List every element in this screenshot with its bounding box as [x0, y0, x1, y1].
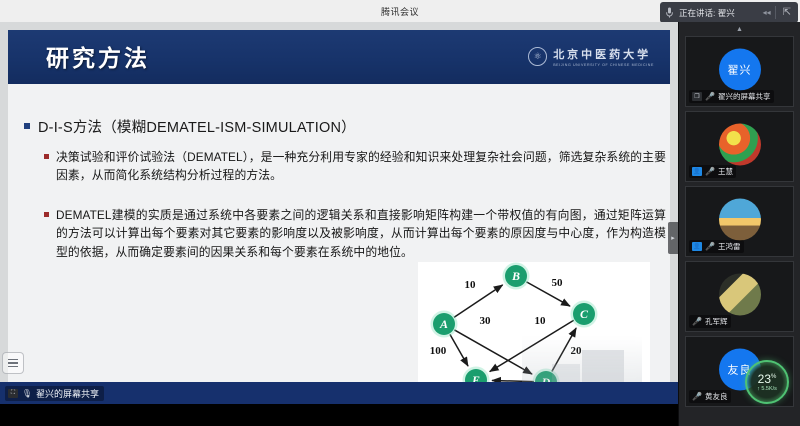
share-status-bar: ⛶ 🎙 翟兴的屏幕共享: [0, 382, 678, 404]
graph-edge: [454, 285, 503, 317]
presentation-slide: 研究方法 ⚛ 北京中医药大学 BEIJING UNIVERSITY OF CHI…: [8, 30, 670, 398]
pill-divider: [775, 6, 776, 19]
participant-tile[interactable]: 友良🎤黄友良23%↑ 5.5K/s: [685, 336, 794, 407]
microphone-muted-icon: 🎤: [705, 167, 715, 176]
participant-name: 翟兴的屏幕共享: [718, 91, 771, 102]
slide-header: 研究方法 ⚛ 北京中医药大学 BEIJING UNIVERSITY OF CHI…: [8, 30, 670, 84]
graph-edge-weight: 50: [552, 277, 564, 289]
active-speaker-label: 正在讲话: 翟兴: [679, 7, 759, 19]
network-rate: ↑ 5.5K/s: [757, 386, 777, 392]
meeting-window: 腾讯会议 正在讲话: 翟兴 ◂◂ ⇱ 研究方法 ⚛ 北京中医药大学 BEIJIN…: [0, 0, 800, 426]
app-title: 腾讯会议: [381, 5, 419, 18]
participant-tile[interactable]: 翟兴❐🎤翟兴的屏幕共享: [685, 36, 794, 107]
chevron-collapse-icon[interactable]: ◂◂: [763, 8, 771, 17]
bullet-level2: DEMATEL建模的实质是通过系统中各要素之间的逻辑关系和直接影响矩阵构建一个带…: [44, 206, 666, 261]
participant-tile[interactable]: 👤🎤王鸿雷: [685, 186, 794, 257]
university-seal-icon: ⚛: [528, 47, 547, 66]
bullet-level2-text: DEMATEL建模的实质是通过系统中各要素之间的逻辑关系和直接影响矩阵构建一个带…: [56, 206, 666, 261]
share-status-label: 翟兴的屏幕共享: [36, 387, 99, 400]
graph-edge-weight: 10: [535, 315, 547, 327]
graph-edge: [450, 334, 468, 366]
avatar: [719, 273, 761, 315]
graph-node-label: A: [439, 317, 448, 331]
panel-toggle-icon[interactable]: [2, 352, 24, 374]
share-status-chip: ⛶ 🎙 翟兴的屏幕共享: [5, 386, 104, 401]
microphone-icon: 🎤: [705, 92, 715, 101]
slide-title: 研究方法: [46, 39, 150, 73]
graph-edge-weight: 10: [465, 279, 477, 291]
bullet-level1-text: D-I-S方法（模糊DEMATEL-ISM-SIMULATION）: [38, 116, 356, 137]
bullet-square-icon: [44, 212, 49, 217]
participant-name: 孔军辉: [705, 316, 728, 327]
participant-tile-list: 翟兴❐🎤翟兴的屏幕共享👤🎤王慧👤🎤王鸿雷🎤孔军辉友良🎤黄友良23%↑ 5.5K/…: [679, 36, 800, 407]
participant-name: 王慧: [718, 166, 733, 177]
participant-tile[interactable]: 🎤孔军辉: [685, 261, 794, 332]
graph-edge: [526, 282, 570, 306]
participant-name: 王鸿雷: [718, 241, 741, 252]
participant-label: 👤🎤王慧: [689, 165, 736, 178]
screen-share-icon: ⛶: [8, 389, 18, 398]
microphone-muted-icon: 🎤: [692, 317, 702, 326]
participants-rail[interactable]: ▲ 翟兴❐🎤翟兴的屏幕共享👤🎤王慧👤🎤王鸿雷🎤孔军辉友良🎤黄友良23%↑ 5.5…: [678, 22, 800, 426]
university-name-cn: 北京中医药大学: [553, 46, 654, 62]
participant-label: ❐🎤翟兴的屏幕共享: [689, 90, 774, 103]
university-name-en: BEIJING UNIVERSITY OF CHINESE MEDICINE: [553, 63, 654, 67]
shared-screen-area[interactable]: 研究方法 ⚛ 北京中医药大学 BEIJING UNIVERSITY OF CHI…: [0, 22, 678, 404]
avatar: [719, 198, 761, 240]
bullet-square-icon: [44, 154, 49, 159]
avatar: [719, 123, 761, 165]
university-logo: ⚛ 北京中医药大学 BEIJING UNIVERSITY OF CHINESE …: [528, 46, 654, 67]
microphone-muted-icon: 🎤: [705, 242, 715, 251]
bullet-level1: D-I-S方法（模糊DEMATEL-ISM-SIMULATION）: [24, 116, 356, 137]
graph-node-label: C: [580, 307, 589, 321]
participant-label: 🎤黄友良: [689, 390, 731, 403]
graph-edge-weight: 30: [480, 315, 492, 327]
avatar: 翟兴: [719, 48, 761, 90]
bullet-level2-text: 决策试验和评价试验法（DEMATEL），是一种充分利用专家的经验和知识来处理复杂…: [56, 148, 666, 185]
chevron-right-icon[interactable]: ▸: [668, 222, 678, 254]
microphone-muted-icon: 🎤: [692, 392, 702, 401]
screen-share-icon: ❐: [692, 92, 702, 101]
participant-label: 👤🎤王鸿雷: [689, 240, 744, 253]
chevron-up-icon[interactable]: ▲: [679, 22, 800, 36]
dematel-graph-figure: 105030101002060ABCDE: [418, 262, 650, 398]
graph-node-label: B: [511, 269, 520, 283]
network-quality-badge[interactable]: 23%↑ 5.5K/s: [745, 360, 789, 404]
video-off-icon: 👤: [692, 242, 702, 251]
participant-tile[interactable]: 👤🎤王慧: [685, 111, 794, 182]
participant-label: 🎤孔军辉: [689, 315, 731, 328]
video-off-icon: 👤: [692, 167, 702, 176]
graph-edge-weight: 100: [430, 345, 447, 357]
bullet-level2: 决策试验和评价试验法（DEMATEL），是一种充分利用专家的经验和知识来处理复杂…: [44, 148, 666, 185]
slide-body: D-I-S方法（模糊DEMATEL-ISM-SIMULATION） 决策试验和评…: [8, 84, 670, 398]
restore-window-icon[interactable]: ⇱: [780, 7, 794, 18]
participant-name: 黄友良: [705, 391, 728, 402]
microphone-icon: 🎙: [22, 389, 32, 398]
bullet-square-icon: [24, 123, 30, 129]
network-percent: 23%: [758, 373, 777, 385]
microphone-icon: [664, 6, 675, 19]
active-speaker-pill[interactable]: 正在讲话: 翟兴 ◂◂ ⇱: [660, 2, 798, 23]
